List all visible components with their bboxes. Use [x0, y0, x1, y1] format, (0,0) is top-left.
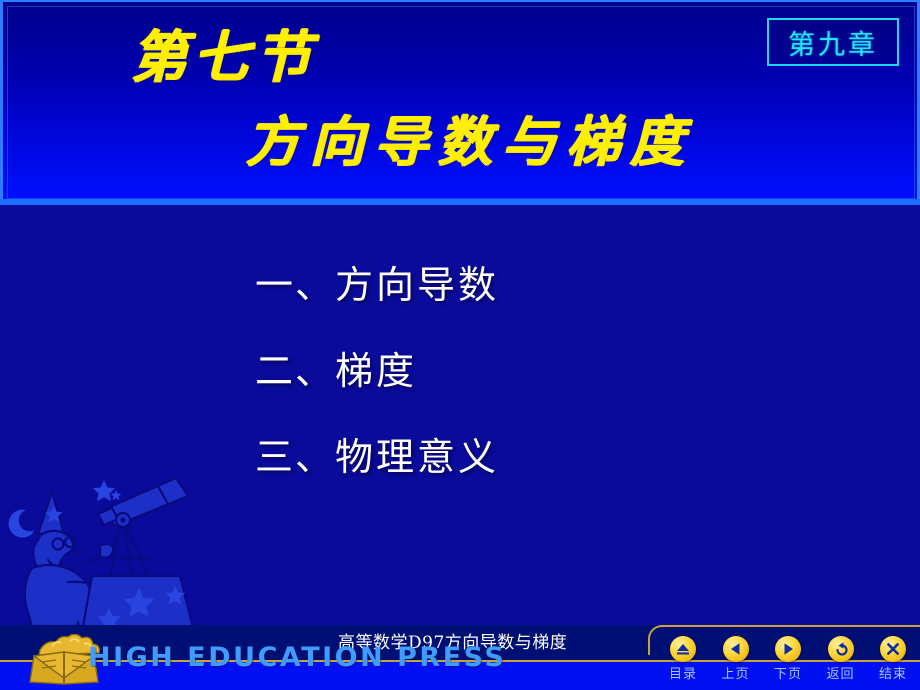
- publisher-name: HIGH EDUCATION PRESS: [88, 642, 506, 673]
- slide-title-subject: 方向导数与梯度: [246, 110, 694, 172]
- outline-item-3-index: 三、: [255, 435, 335, 479]
- nav-circle-contents: [670, 636, 696, 662]
- outline-item-2-label: 梯度: [335, 349, 417, 393]
- return-arrow-icon: [832, 641, 849, 658]
- outline-item-1-index: 一、: [255, 263, 335, 307]
- slide-title-section: 第七节: [131, 26, 317, 88]
- nav-label-return: 返回: [826, 663, 854, 682]
- slide-navigation-bar: 目录 上页 下页: [660, 636, 916, 688]
- nav-circle-end: [880, 636, 906, 662]
- outline-item-3-label: 物理意义: [335, 435, 499, 479]
- outline-item-1[interactable]: 一、方向导数: [255, 262, 775, 308]
- nav-circle-prev-page: [723, 636, 749, 662]
- nav-button-prev-page[interactable]: 上页: [713, 636, 759, 682]
- outline-item-2[interactable]: 二、梯度: [255, 348, 775, 394]
- nav-circle-next-page: [775, 636, 801, 662]
- nav-button-end[interactable]: 结束: [870, 636, 916, 682]
- chapter-badge: 第九章: [767, 18, 899, 66]
- close-x-icon: [885, 641, 901, 657]
- presentation-slide: 第七节 方向导数与梯度 第九章 一、方向导数 二、梯度 三、物理意义 .wz-f…: [0, 0, 920, 690]
- nav-button-return[interactable]: 返回: [818, 636, 864, 682]
- slide-header-banner: 第七节 方向导数与梯度 第九章: [0, 0, 920, 205]
- nav-label-end: 结束: [879, 663, 907, 682]
- nav-circle-return: [828, 636, 854, 662]
- nav-label-prev-page: 上页: [721, 663, 749, 682]
- nav-button-contents[interactable]: 目录: [660, 636, 706, 682]
- chapter-badge-label: 第九章: [788, 23, 878, 62]
- outline-item-3[interactable]: 三、物理意义: [255, 434, 775, 480]
- wizard-telescope-icon: .wz-f { fill: #1C30C8; } .wz-l { fill: #…: [8, 462, 198, 632]
- outline-item-1-label: 方向导数: [335, 263, 499, 307]
- outline-item-2-index: 二、: [255, 349, 335, 393]
- triangle-up-bar-icon: [675, 641, 691, 657]
- outline-list: 一、方向导数 二、梯度 三、物理意义: [255, 262, 775, 520]
- triangle-right-icon: [780, 641, 796, 657]
- nav-button-next-page[interactable]: 下页: [765, 636, 811, 682]
- nav-label-contents: 目录: [669, 663, 697, 682]
- triangle-left-icon: [728, 641, 744, 657]
- header-bottom-edge: [0, 199, 920, 205]
- nav-label-next-page: 下页: [774, 663, 802, 682]
